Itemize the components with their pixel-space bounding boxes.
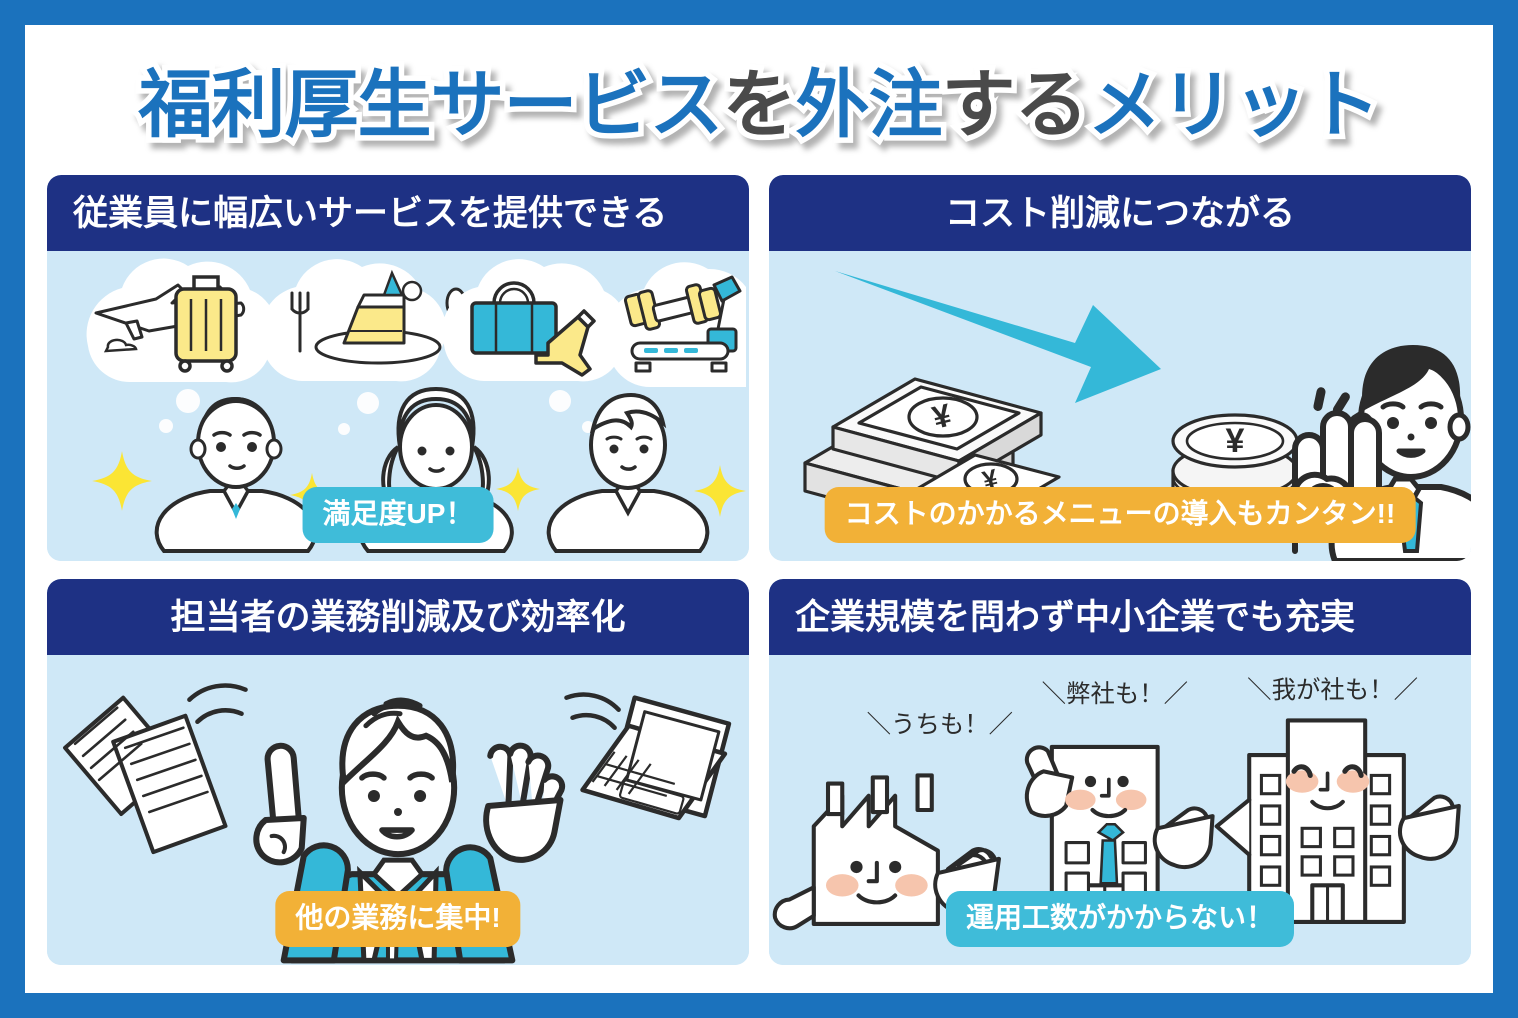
panel-any-company-size-title: 企業規模を問わず中小企業でも充実: [795, 600, 1355, 635]
panel-any-company-size-body: ＼うちも！／ ＼弊社も！／ ＼我が社も！／: [769, 655, 1471, 965]
title-part-5: メリット: [1088, 63, 1380, 146]
poster-inner-frame: 福利厚生サービスを外注するメリット 従業員に幅広いサービスを提供できる: [25, 25, 1493, 993]
panel-workload-reduction-title: 担当者の業務削減及び効率化: [170, 600, 625, 635]
title-part-1: 福利厚生サービス: [139, 63, 723, 146]
panel-any-company-size-header: 企業規模を問わず中小企業でも充実: [769, 579, 1471, 655]
poster-root: 福利厚生サービスを外注するメリット 従業員に幅広いサービスを提供できる: [0, 0, 1518, 1018]
speech-label-2: ＼弊社も！／: [1042, 681, 1188, 708]
panel-any-company-size-badge: 運用工数がかからない！: [946, 891, 1294, 947]
panel-cost-reduction: コスト削減につながる: [769, 175, 1471, 561]
panel-workload-reduction-body: 他の業務に集中!: [47, 655, 749, 965]
title-part-2: を: [723, 63, 796, 146]
svg-text:¥: ¥: [1226, 422, 1245, 460]
title-part-3: 外注: [796, 63, 942, 146]
panel-broad-services-header: 従業員に幅広いサービスを提供できる: [47, 175, 749, 251]
title-text: 福利厚生サービスを外注するメリット: [139, 68, 1380, 142]
panel-workload-reduction-badge: 他の業務に集中!: [275, 891, 520, 947]
panel-cost-reduction-header: コスト削減につながる: [769, 175, 1471, 251]
panel-any-company-size: 企業規模を問わず中小企業でも充実 ＼うちも！／ ＼弊社も！／ ＼我が社も！／: [769, 579, 1471, 965]
benefits-grid: 従業員に幅広いサービスを提供できる: [47, 175, 1471, 965]
panel-cost-reduction-badge: コストのかかるメニューの導入もカンタン!!: [825, 487, 1416, 543]
panel-broad-services: 従業員に幅広いサービスを提供できる: [47, 175, 749, 561]
panel-workload-reduction: 担当者の業務削減及び効率化: [47, 579, 749, 965]
page-title: 福利厚生サービスを外注するメリット: [47, 35, 1471, 175]
panel-broad-services-body: 満足度UP！: [47, 251, 749, 561]
panel-broad-services-title: 従業員に幅広いサービスを提供できる: [73, 196, 667, 231]
panel-cost-reduction-body: ¥ ¥ ¥: [769, 251, 1471, 561]
panel-cost-reduction-title: コスト削減につながる: [945, 196, 1295, 231]
speech-label-3: ＼我が社も！／: [1247, 677, 1418, 704]
title-part-4: する: [942, 63, 1088, 146]
panel-broad-services-badge: 満足度UP！: [303, 487, 494, 543]
speech-label-1: ＼うちも！／: [867, 712, 1013, 739]
panel-workload-reduction-header: 担当者の業務削減及び効率化: [47, 579, 749, 655]
